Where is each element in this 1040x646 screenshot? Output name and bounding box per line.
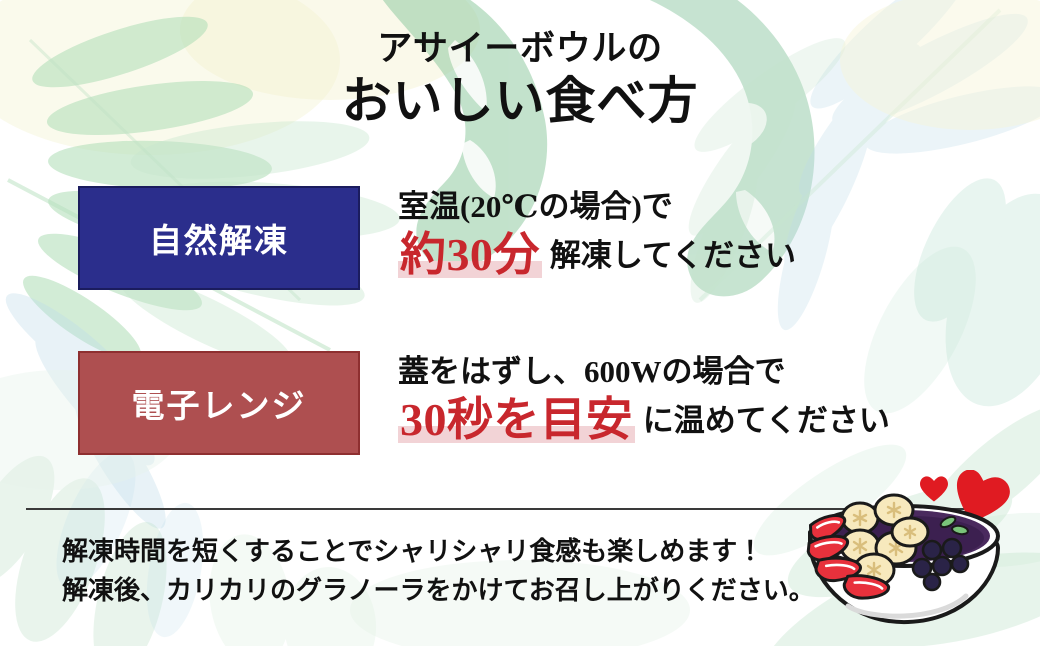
acai-bowl-illustration — [798, 470, 1040, 646]
method-instruction-natural-thaw: 室温(20℃の場合)で 約30分解凍してください — [398, 186, 796, 280]
footnote-line-1: 解凍時間を短くすることでシャリシャリ食感も楽しめます！ — [62, 532, 815, 571]
title-line-2: おいしい食べ方 — [0, 71, 1040, 131]
method-badge-natural-thaw: 自然解凍 — [78, 186, 360, 290]
highlight-duration-natural-thaw: 約30分 — [398, 230, 542, 281]
method-row-natural-thaw: 自然解凍 室温(20℃の場合)で 約30分解凍してください — [78, 186, 796, 290]
highlight-duration-microwave: 30秒を目安 — [398, 395, 635, 446]
method-instruction-microwave: 蓋をはずし、600Wの場合で 30秒を目安に温めてください — [398, 351, 890, 445]
footnote-block: 解凍時間を短くすることでシャリシャリ食感も楽しめます！ 解凍後、カリカリのグラノ… — [62, 532, 815, 610]
poster-canvas: アサイーボウルの おいしい食べ方 自然解凍 室温(20℃の場合)で 約30分解凍… — [0, 0, 1040, 646]
instruction-tail-natural-thaw: 解凍してください — [550, 238, 796, 273]
method-row-microwave: 電子レンジ 蓋をはずし、600Wの場合で 30秒を目安に温めてください — [78, 351, 890, 455]
instruction-tail-microwave: に温めてください — [643, 403, 890, 438]
heart-small-icon — [920, 476, 948, 501]
footnote-line-2: 解凍後、カリカリのグラノーラをかけてお召し上がりください。 — [62, 571, 815, 610]
instruction-condition-natural-thaw: 室温(20℃の場合)で — [398, 188, 796, 226]
title-line-1: アサイーボウルの — [0, 28, 1040, 69]
instruction-action-microwave: 30秒を目安に温めてください — [398, 395, 890, 446]
instruction-action-natural-thaw: 約30分解凍してください — [398, 230, 796, 281]
instruction-condition-microwave: 蓋をはずし、600Wの場合で — [398, 353, 890, 391]
page-title: アサイーボウルの おいしい食べ方 — [0, 28, 1040, 131]
method-badge-microwave: 電子レンジ — [78, 351, 360, 455]
